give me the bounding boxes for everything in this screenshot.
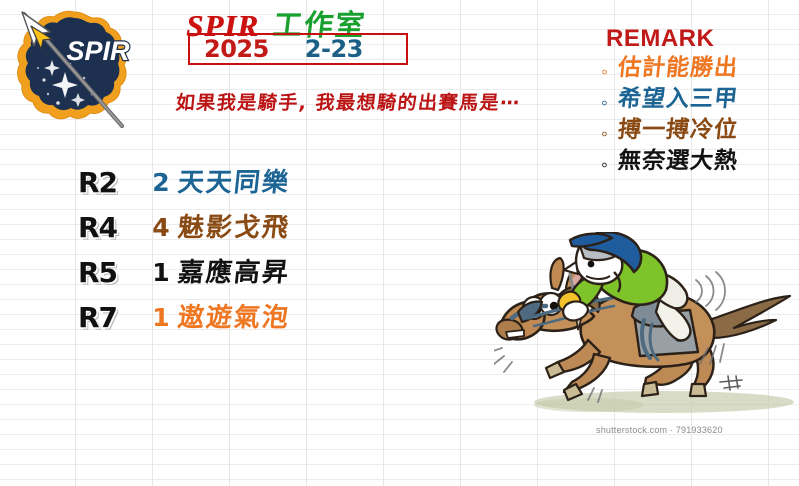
horse-teeth — [506, 330, 524, 338]
remark-item: 。 希望入三甲 — [600, 84, 799, 114]
horse-name: 天天同樂 — [177, 170, 292, 196]
horse-tail — [709, 296, 790, 338]
subtitle-question: 如果我是騎手, 我最想騎的出賽馬是⋯ — [175, 88, 523, 115]
race-row: R2 2 天天同樂 — [78, 160, 290, 205]
date-box: 2025 2-23 — [188, 33, 408, 65]
bullet-icon: 。 — [600, 123, 618, 138]
race-selection-list: R2 2 天天同樂 R4 4 魅影戈飛 R5 1 嘉應高昇 R7 1 遨遊氣泡 — [78, 160, 290, 340]
remark-text: 估計能勝出 — [617, 57, 739, 80]
jockey-eye — [588, 261, 595, 268]
jockey-nose — [564, 262, 578, 274]
year-label: 2025 — [204, 37, 269, 61]
horse-name: 魅影戈飛 — [177, 215, 292, 241]
spir-logo-badge: SPIR — [14, 8, 134, 128]
logo-text: SPIR — [66, 36, 130, 66]
remark-text: 無奈選大熱 — [617, 150, 739, 173]
race-row: R7 1 遨遊氣泡 — [78, 295, 290, 340]
speed-streaks — [720, 376, 742, 390]
race-code: R7 — [78, 304, 144, 332]
horse-number: 1 — [144, 260, 178, 285]
race-code: R5 — [78, 259, 144, 287]
race-row: R5 1 嘉應高昇 — [78, 250, 290, 295]
hoof-hind-left — [642, 382, 658, 396]
remark-text: 搏一搏冷位 — [617, 119, 739, 142]
race-code: R4 — [78, 214, 144, 242]
remark-item: 。 估計能勝出 — [600, 53, 799, 83]
horse-name: 嘉應高昇 — [177, 260, 292, 286]
remark-title: REMARK — [606, 26, 799, 52]
horse-number: 2 — [144, 170, 178, 195]
jockey-hand — [563, 301, 588, 320]
horse-number: 1 — [144, 305, 178, 330]
bullet-icon: 。 — [600, 61, 618, 76]
stock-watermark: shutterstock.com · 791933620 — [596, 425, 796, 435]
remark-item: 。 無奈選大熱 — [600, 146, 799, 176]
jockey-horse-illustration: 5 — [494, 232, 799, 432]
horse-name: 遨遊氣泡 — [177, 305, 292, 331]
date-label: 2-23 — [305, 37, 363, 61]
race-row: R4 4 魅影戈飛 — [78, 205, 290, 250]
remark-panel: REMARK 。 估計能勝出 。 希望入三甲 。 搏一搏冷位 。 無奈選大熱 — [600, 26, 799, 176]
hoof-hind-right — [690, 384, 706, 396]
horse-number: 4 — [144, 215, 178, 240]
race-code: R2 — [78, 169, 144, 197]
remark-item: 。 搏一搏冷位 — [600, 115, 799, 145]
poster-canvas: SPIR SPIR 工作室 2025 2-23 如果我是騎手, 我最想騎的出賽馬… — [0, 0, 799, 486]
bullet-icon: 。 — [600, 92, 618, 107]
remark-text: 希望入三甲 — [617, 88, 739, 111]
bullet-icon: 。 — [600, 154, 618, 169]
